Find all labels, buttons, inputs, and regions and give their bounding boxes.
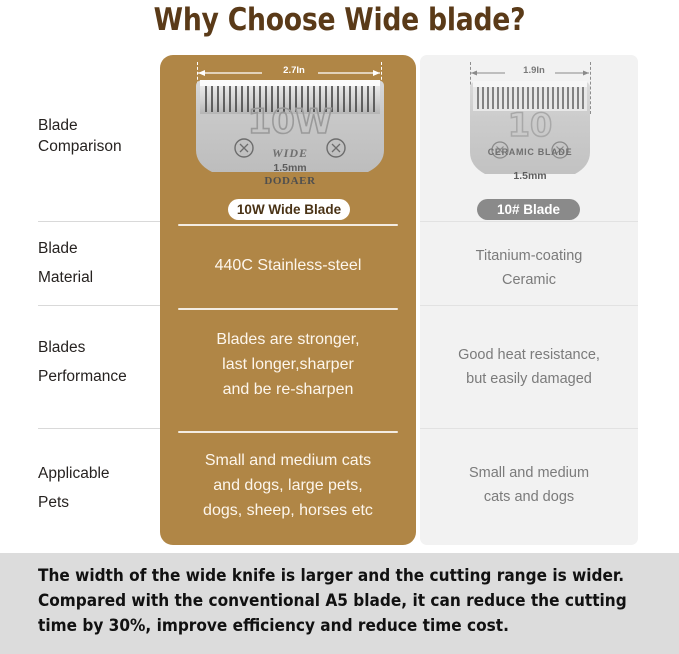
row-label-blade-comparison: Blade Comparison	[38, 115, 158, 157]
row-divider	[420, 428, 638, 429]
row-divider	[178, 224, 398, 226]
row-divider	[420, 221, 638, 222]
row-divider	[178, 308, 398, 310]
row-divider	[38, 221, 160, 222]
wide-blade-pets: Small and medium cats and dogs, large pe…	[168, 448, 408, 523]
wide-blade-size: 1.5mm	[190, 162, 390, 174]
footer-line: The width of the wide knife is larger an…	[38, 563, 615, 588]
standard-blade-pill-label: 10# Blade	[477, 199, 580, 220]
standard-blade-image: 1.9In	[465, 62, 595, 192]
footer-line: time by 30%, improve efficiency and redu…	[38, 613, 615, 638]
standard-blade-material: Titanium-coating Ceramic	[424, 244, 634, 292]
row-label-line: Comparison	[38, 136, 158, 157]
performance-line: last longer,sharper	[168, 352, 408, 377]
pets-line: Small and medium	[424, 461, 634, 485]
row-label-line: Pets	[38, 492, 158, 513]
standard-blade-dimension-label: 1.9In	[507, 65, 561, 76]
standard-blade-performance: Good heat resistance, but easily damaged	[424, 343, 634, 391]
performance-line: Blades are stronger,	[168, 327, 408, 352]
row-divider	[178, 431, 398, 433]
row-label-line: Blades	[38, 337, 158, 358]
performance-line: Good heat resistance,	[424, 343, 634, 367]
standard-blade-size: 1.5mm	[465, 170, 595, 182]
wide-blade-pill-label: 10W Wide Blade	[228, 199, 350, 220]
row-divider	[420, 305, 638, 306]
wide-blade-number: 10W	[248, 102, 333, 142]
wide-blade-brand: DODAER	[190, 175, 390, 187]
performance-line: and be re-sharpen	[168, 377, 408, 402]
pets-line: dogs, sheep, horses etc	[168, 498, 408, 523]
infographic-page: Why Choose Wide blade? Blade Comparison …	[0, 0, 679, 654]
material-line: Ceramic	[424, 268, 634, 292]
performance-line: but easily damaged	[424, 367, 634, 391]
page-title: Why Choose Wide blade?	[48, 2, 632, 38]
wide-blade-material: 440C Stainless-steel	[168, 253, 408, 278]
standard-blade-number: 10	[508, 106, 553, 144]
footer-band: The width of the wide knife is larger an…	[0, 553, 679, 654]
row-label-line: Blade	[38, 238, 158, 259]
row-divider	[38, 305, 160, 306]
wide-blade-dimension-label: 2.7In	[264, 65, 324, 76]
row-label-blades-performance: Blades Performance	[38, 337, 158, 387]
pets-line: Small and medium cats	[168, 448, 408, 473]
row-label-blade-material: Blade Material	[38, 238, 158, 288]
row-label-line: Performance	[38, 366, 158, 387]
wide-blade-image: 2.7In	[190, 62, 390, 192]
pets-line: and dogs, large pets,	[168, 473, 408, 498]
row-label-column: Blade Comparison Blade Material Blades P…	[0, 55, 160, 545]
pets-line: cats and dogs	[424, 485, 634, 509]
row-label-applicable-pets: Applicable Pets	[38, 463, 158, 513]
wide-blade-performance: Blades are stronger, last longer,sharper…	[168, 327, 408, 402]
footer-line: Compared with the conventional A5 blade,…	[38, 588, 615, 613]
row-label-line: Material	[38, 267, 158, 288]
row-label-line: Blade	[38, 115, 158, 136]
standard-blade-pets: Small and medium cats and dogs	[424, 461, 634, 509]
material-line: Titanium-coating	[424, 244, 634, 268]
footer-description: The width of the wide knife is larger an…	[38, 563, 615, 638]
wide-blade-word: WIDE	[190, 146, 390, 161]
standard-blade-word: CERAMIC BLADE	[465, 147, 595, 157]
row-label-line: Applicable	[38, 463, 158, 484]
row-divider	[38, 428, 160, 429]
